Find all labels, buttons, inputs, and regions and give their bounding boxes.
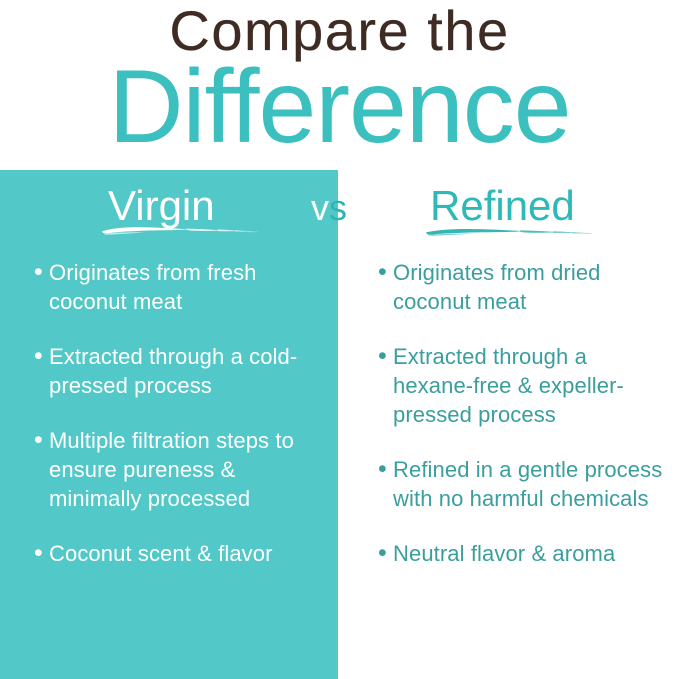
list-item: • Originates from fresh coconut meat <box>34 258 326 316</box>
header: Compare the Difference <box>0 0 679 170</box>
list-item: • Multiple filtration steps to ensure pu… <box>34 426 326 513</box>
bullet-dot-icon: • <box>378 539 393 568</box>
list-item: • Neutral flavor & aroma <box>378 539 664 568</box>
bullet-dot-icon: • <box>34 539 49 568</box>
list-item-text: Originates from fresh coconut meat <box>49 258 326 316</box>
column-heading-refined: Refined <box>430 182 575 230</box>
list-item-text: Extracted through a hexane-free & expell… <box>393 342 664 429</box>
bullet-dot-icon: • <box>378 342 393 429</box>
list-item-text: Neutral flavor & aroma <box>393 539 664 568</box>
bullet-dot-icon: • <box>378 455 393 513</box>
list-item: • Extracted through a hexane-free & expe… <box>378 342 664 429</box>
title-line-difference: Difference <box>0 48 679 166</box>
versus-letter-v: v <box>311 187 329 228</box>
bullet-dot-icon: • <box>34 342 49 400</box>
brush-underline-virgin-icon <box>100 222 260 238</box>
versus-separator: vs <box>311 186 347 230</box>
list-item: • Coconut scent & flavor <box>34 539 326 568</box>
bullet-dot-icon: • <box>34 426 49 513</box>
versus-letter-s: s <box>329 187 347 228</box>
brush-underline-refined-icon <box>424 224 594 240</box>
list-item: • Refined in a gentle process with no ha… <box>378 455 664 513</box>
list-item: • Extracted through a cold-pressed proce… <box>34 342 326 400</box>
list-item-text: Refined in a gentle process with no harm… <box>393 455 664 513</box>
column-headings-band: Virgin vs Refined <box>0 170 679 250</box>
list-item-text: Originates from dried coconut meat <box>393 258 664 316</box>
list-item-text: Extracted through a cold-pressed process <box>49 342 326 400</box>
virgin-bullet-list: • Originates from fresh coconut meat • E… <box>34 258 326 594</box>
list-item: • Originates from dried coconut meat <box>378 258 664 316</box>
bullet-dot-icon: • <box>34 258 49 316</box>
bullet-dot-icon: • <box>378 258 393 316</box>
compare-the-difference-infographic: Compare the Difference Virgin vs Refined <box>0 0 679 679</box>
refined-bullet-list: • Originates from dried coconut meat • E… <box>378 258 664 594</box>
list-item-text: Coconut scent & flavor <box>49 539 326 568</box>
list-item-text: Multiple filtration steps to ensure pure… <box>49 426 326 513</box>
